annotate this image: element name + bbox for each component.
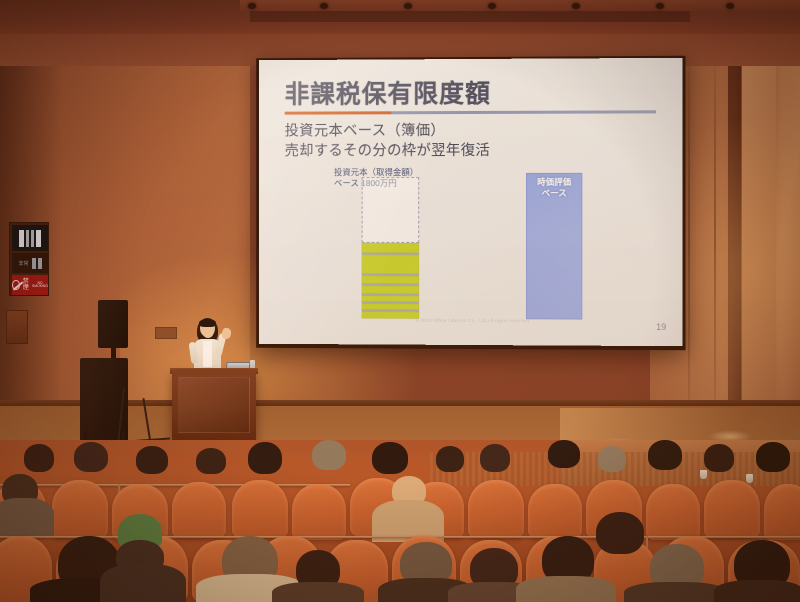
indicator-display <box>12 225 48 251</box>
theater-seat <box>646 484 700 540</box>
audience-head <box>704 444 734 472</box>
bar-segment <box>362 286 420 296</box>
podium-front-panel <box>178 377 250 433</box>
wall-recess <box>728 40 741 440</box>
no-smoking-sign: 禁煙 NO SMOKING <box>12 275 48 295</box>
no-smoking-label-jp: 禁煙 <box>22 279 30 291</box>
presenter-shirt <box>203 341 212 367</box>
pa-speaker-stack <box>78 300 140 446</box>
audience-area <box>0 440 800 602</box>
audience-shoulders <box>516 576 616 602</box>
audience-head <box>248 442 282 474</box>
indicator-bars-icon <box>32 258 42 269</box>
ceiling-downlight-icon <box>726 3 734 9</box>
screenshot-root: 非常 禁煙 NO SMOKING 非課税保有限度額 投資元本ベース（簿価） 売却… <box>0 0 800 602</box>
display-segment-icon <box>19 230 24 247</box>
aisle-rail <box>0 484 350 486</box>
paper-cup <box>746 474 753 483</box>
ceiling-downlight-icon <box>320 3 328 9</box>
audience-head <box>196 448 226 474</box>
theater-seat <box>292 484 346 540</box>
right-pillar <box>742 40 776 440</box>
audience-head <box>598 446 626 472</box>
slide-page-number: 19 <box>656 322 666 332</box>
audience-head <box>596 512 644 554</box>
display-segment-icon <box>26 230 29 247</box>
audience-head <box>548 440 580 468</box>
audience-head <box>136 446 168 474</box>
slide-title: 非課税保有限度額 <box>285 80 656 108</box>
theater-seat <box>52 480 108 538</box>
bar-segment <box>362 296 420 304</box>
exit-indicator: 非常 <box>12 253 48 273</box>
no-smoking-icon <box>12 280 20 290</box>
presenter-hair-fringe <box>199 319 216 327</box>
display-segment-icon <box>31 230 34 247</box>
wall-panel-seam <box>714 40 716 440</box>
display-segment-icon <box>36 230 41 247</box>
wall-panel-seam <box>688 40 690 440</box>
ceiling-downlight-icon <box>656 3 664 9</box>
principal-bar-stack <box>362 243 420 319</box>
bar-segment <box>362 276 420 286</box>
slide-copyright: © 2024 Office Libertas Co., Ltd All righ… <box>285 317 665 324</box>
audience-head <box>24 444 54 472</box>
audience-shoulders <box>0 498 54 538</box>
bar-segment <box>362 304 420 312</box>
audience-shoulders <box>714 580 800 602</box>
no-smoking-label-en: NO SMOKING <box>32 282 48 289</box>
ceiling-downlight-icon <box>248 3 256 9</box>
theater-seat <box>764 484 800 540</box>
audience-shoulders <box>100 564 186 602</box>
wall-plate <box>155 327 177 339</box>
slide-subtitle: 投資元本ベース（簿価） 売却するその分の枠が翌年復活 <box>285 121 656 162</box>
theater-seat <box>172 482 226 538</box>
exit-indicator-label: 非常 <box>18 260 28 267</box>
podium <box>172 371 256 441</box>
emergency-sign-panel: 非常 禁煙 NO SMOKING <box>9 222 49 296</box>
slide-subtitle-line-1: 投資元本ベース（簿価） <box>285 121 656 142</box>
market-value-bar: 時価評価 ベース <box>526 173 582 320</box>
market-value-bar-label: 時価評価 ベース <box>527 177 581 200</box>
pa-speaker-top <box>98 300 128 348</box>
theater-seat <box>232 480 288 538</box>
market-value-label-line-2: ベース <box>527 188 581 200</box>
slide-subtitle-line-2: 売却するその分の枠が翌年復活 <box>285 141 656 162</box>
theater-seat <box>528 484 582 538</box>
audience-head <box>436 446 464 472</box>
slide-title-underline <box>285 111 656 115</box>
audience-head <box>480 444 510 472</box>
wall-utility-box <box>6 310 28 344</box>
audience-head <box>312 440 346 470</box>
ceiling-downlight-icon <box>572 3 580 9</box>
market-value-label-line-1: 時価評価 <box>527 177 581 189</box>
audience-head <box>756 442 790 472</box>
audience-head <box>648 440 682 470</box>
presentation-slide: 非課税保有限度額 投資元本ベース（簿価） 売却するその分の枠が翌年復活 投資元本… <box>259 58 682 346</box>
ceiling-downlight-icon <box>488 3 496 9</box>
bar-segment <box>362 255 420 276</box>
slide-chart: 投資元本（取得金額） ベース 1800万円 時価評価 ベース <box>285 167 665 328</box>
audience-head <box>74 442 108 472</box>
capacity-outline-box <box>362 177 420 243</box>
paper-cup <box>700 470 707 479</box>
ceiling-downlight-icon <box>404 3 412 9</box>
projection-screen: 非課税保有限度額 投資元本ベース（簿価） 売却するその分の枠が翌年復活 投資元本… <box>259 58 682 346</box>
bar-segment <box>362 243 420 255</box>
audience-shoulders <box>624 582 728 602</box>
audience-shoulders <box>272 582 364 602</box>
theater-seat <box>468 480 524 538</box>
audience-head <box>372 442 408 474</box>
theater-seat <box>704 480 760 538</box>
